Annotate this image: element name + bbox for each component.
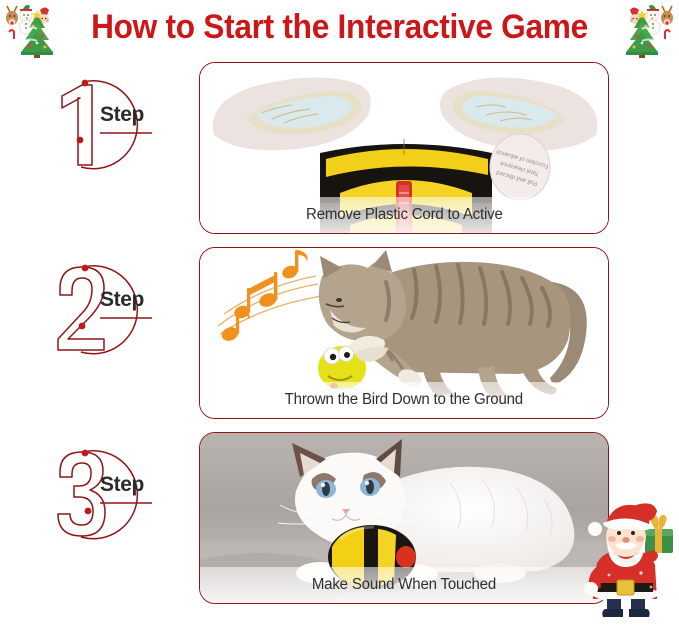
panel-caption-bar-3: Make Sound When Touched [200, 567, 608, 603]
step-row: Step [0, 58, 679, 243]
step-row: Step [0, 428, 679, 613]
panel-caption-bar-1: Remove Plastic Cord to Active [200, 197, 608, 233]
hang-tag: Pull and discard Total clearance Functio… [490, 134, 550, 200]
page-header: How to Start the Interactive Game [0, 0, 679, 62]
panel-caption-bar-2: Thrown the Bird Down to the Ground [200, 382, 608, 418]
step-word-label: Step [100, 473, 144, 497]
step-word-label: Step [100, 288, 144, 312]
step-badge-2: Step [48, 255, 184, 365]
christmas-tree-snowman-reindeer-icon [609, 2, 675, 60]
panel-caption-1: Remove Plastic Cord to Active [306, 206, 503, 224]
steps-list: Step [0, 58, 679, 613]
step-panel-1: Pull and discard Total clearance Functio… [199, 62, 609, 234]
panel-caption-3: Make Sound When Touched [312, 576, 496, 594]
panel-caption-2: Thrown the Bird Down to the Ground [285, 391, 523, 409]
step-badge-3: Step [48, 440, 184, 550]
step-badge-1: Step [48, 70, 184, 180]
step-row: Step [0, 243, 679, 428]
santa-claus-holding-gift-icon [571, 501, 679, 619]
step-panel-2: Thrown the Bird Down to the Ground [199, 247, 609, 419]
step-panel-3: Make Sound When Touched [199, 432, 609, 604]
step-word-label: Step [100, 103, 144, 127]
page-title: How to Start the Interactive Game [24, 8, 655, 47]
